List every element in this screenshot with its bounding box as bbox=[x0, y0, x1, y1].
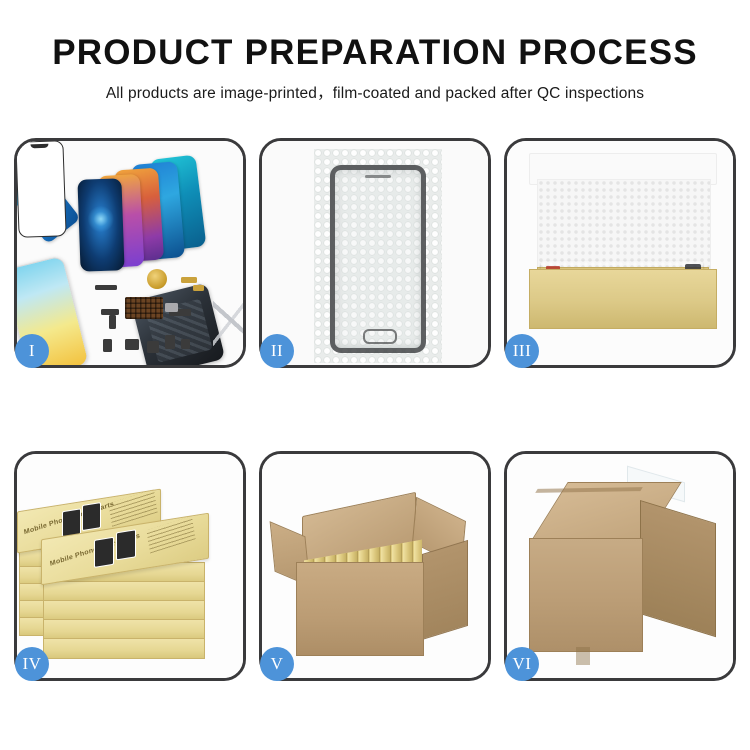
process-step-panel-5: V bbox=[259, 451, 491, 681]
spare-parts-cluster bbox=[95, 269, 235, 365]
retail-box-side bbox=[43, 638, 205, 659]
sim-tray-part-icon bbox=[103, 339, 112, 352]
step-badge-6: VI bbox=[505, 647, 539, 681]
earpiece-slot-icon bbox=[365, 175, 391, 178]
battery-connector-part-icon bbox=[165, 335, 175, 349]
process-step-panel-6: VI bbox=[504, 451, 736, 681]
chip-part-icon bbox=[181, 339, 190, 349]
metal-shield-part-icon bbox=[165, 303, 178, 312]
foam-padding-icon bbox=[537, 179, 711, 271]
phone-notch-icon bbox=[30, 144, 48, 149]
gold-bracket-part-icon bbox=[193, 285, 204, 291]
step-badge-2: II bbox=[260, 334, 294, 368]
retail-box-side bbox=[43, 600, 205, 621]
page-title: PRODUCT PREPARATION PROCESS bbox=[0, 0, 750, 73]
gold-contact-part-icon bbox=[181, 277, 197, 283]
process-step-panel-2: II bbox=[259, 138, 491, 368]
retail-box-side bbox=[43, 619, 205, 640]
page-subtitle: All products are image-printed，film-coat… bbox=[0, 73, 750, 103]
vibrator-part-icon bbox=[125, 339, 139, 350]
step-4-photo: Mobile Phone Spare Parts Mobile Phone Sp… bbox=[17, 454, 243, 678]
carton-hand-hole-upper-icon bbox=[576, 647, 590, 665]
step-badge-1: I bbox=[15, 334, 49, 368]
retail-box-side bbox=[43, 581, 205, 602]
carton-front-face-icon bbox=[529, 538, 643, 652]
phone-screen-white-frame-icon bbox=[17, 141, 67, 238]
step-badge-4: IV bbox=[15, 647, 49, 681]
bubble-wrap-sheet-icon bbox=[314, 149, 442, 363]
box-artwork-phone-thumb-icon bbox=[94, 537, 114, 568]
home-button-slot-icon bbox=[363, 329, 397, 344]
page-header: PRODUCT PREPARATION PROCESS All products… bbox=[0, 0, 750, 103]
carton-front-face-icon bbox=[296, 562, 424, 656]
phone-screen-dark-icon bbox=[77, 178, 124, 271]
step-5-photo bbox=[262, 454, 488, 678]
carton-side-face-icon bbox=[640, 500, 716, 637]
flex-cable-part-icon bbox=[95, 285, 117, 290]
step-1-photo bbox=[17, 141, 243, 365]
box-artwork-spec-lines bbox=[146, 516, 195, 554]
wrapped-screen-icon bbox=[330, 165, 426, 353]
step-badge-3: III bbox=[505, 334, 539, 368]
box-artwork-phone-thumb-icon bbox=[116, 529, 136, 560]
taptic-engine-part-icon bbox=[147, 341, 159, 353]
step-3-photo bbox=[507, 141, 733, 365]
logic-board-part-icon bbox=[125, 297, 163, 319]
kraft-box-front-icon bbox=[529, 269, 717, 329]
step-2-photo bbox=[262, 141, 488, 365]
process-step-panel-1: I bbox=[14, 138, 246, 368]
step-badge-5: V bbox=[260, 647, 294, 681]
process-step-panel-4: Mobile Phone Spare Parts Mobile Phone Sp… bbox=[14, 451, 246, 681]
step-6-photo bbox=[507, 454, 733, 678]
retail-box-stack-icon: Mobile Phone Spare Parts Mobile Phone Sp… bbox=[17, 464, 241, 674]
box-artwork-phone-thumb-icon bbox=[82, 502, 101, 531]
process-step-panel-3: III bbox=[504, 138, 736, 368]
process-step-grid: I II III bbox=[14, 138, 736, 686]
speaker-coil-part-icon bbox=[147, 269, 167, 289]
carton-right-face-icon bbox=[422, 540, 468, 640]
button-flex-part-icon bbox=[109, 315, 116, 329]
